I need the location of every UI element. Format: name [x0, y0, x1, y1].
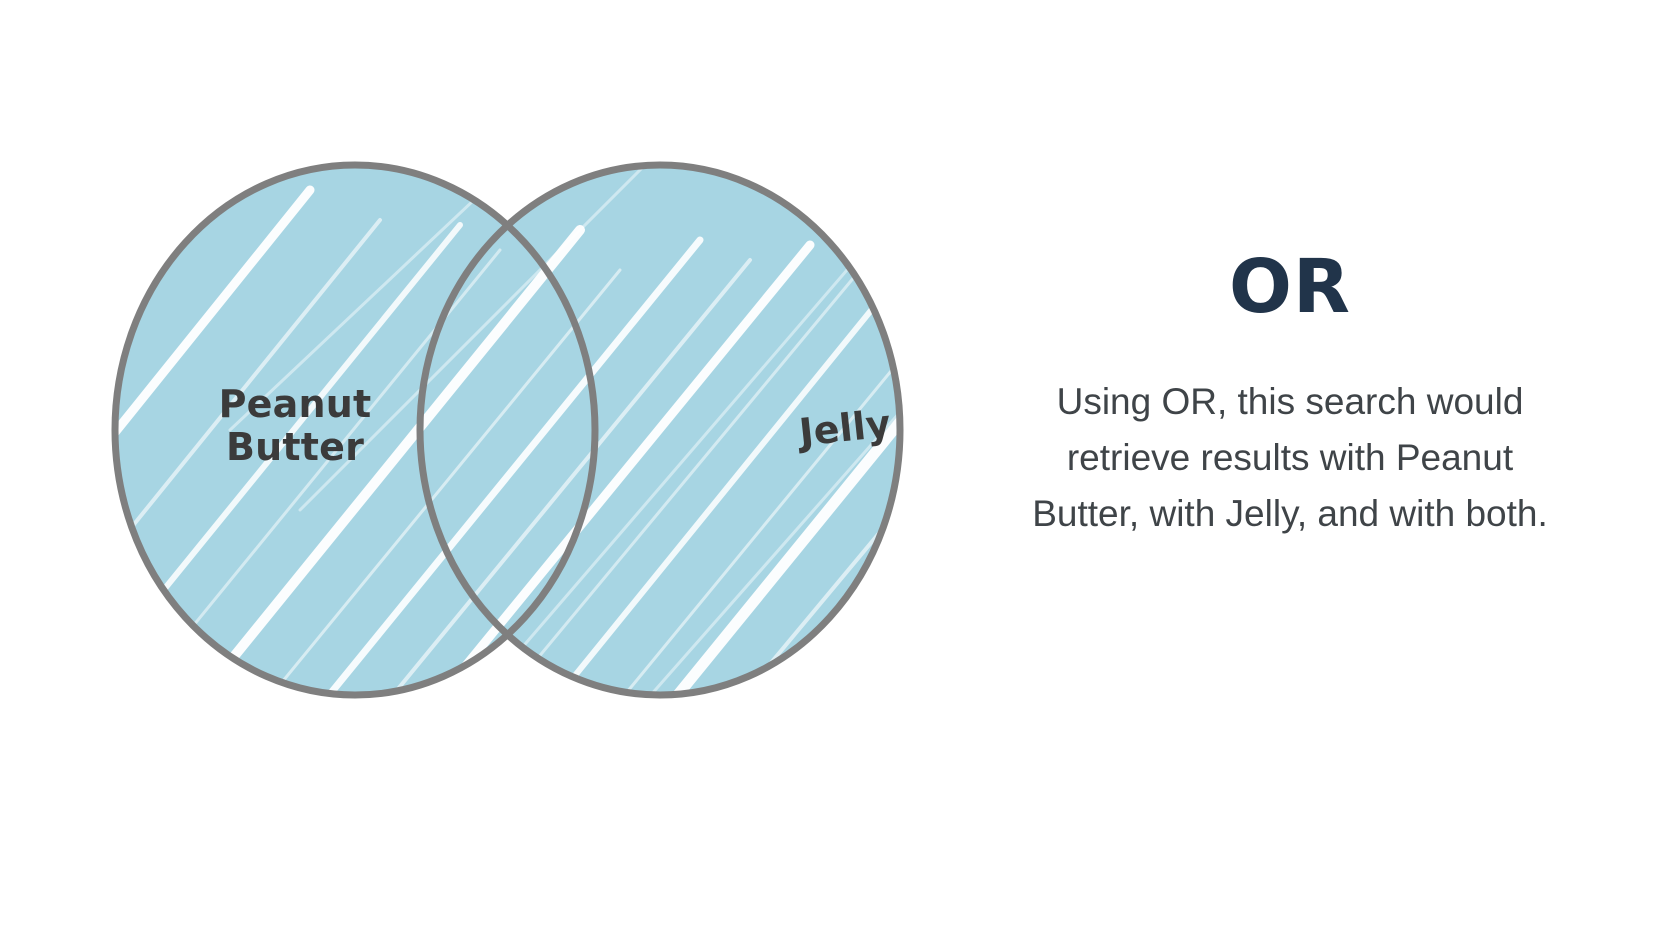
explanation-panel: OR Using OR, this search would retrieve … [1020, 250, 1560, 543]
explanation-body-text: Using OR, this search would retrieve res… [1020, 374, 1560, 543]
page-root: Peanut Butter Jelly OR Using OR, this se… [0, 0, 1680, 945]
venn-label-peanut-butter: Peanut Butter [180, 383, 410, 468]
venn-diagram: Peanut Butter Jelly [60, 130, 1020, 730]
heading-operator-or: OR [1020, 250, 1560, 324]
